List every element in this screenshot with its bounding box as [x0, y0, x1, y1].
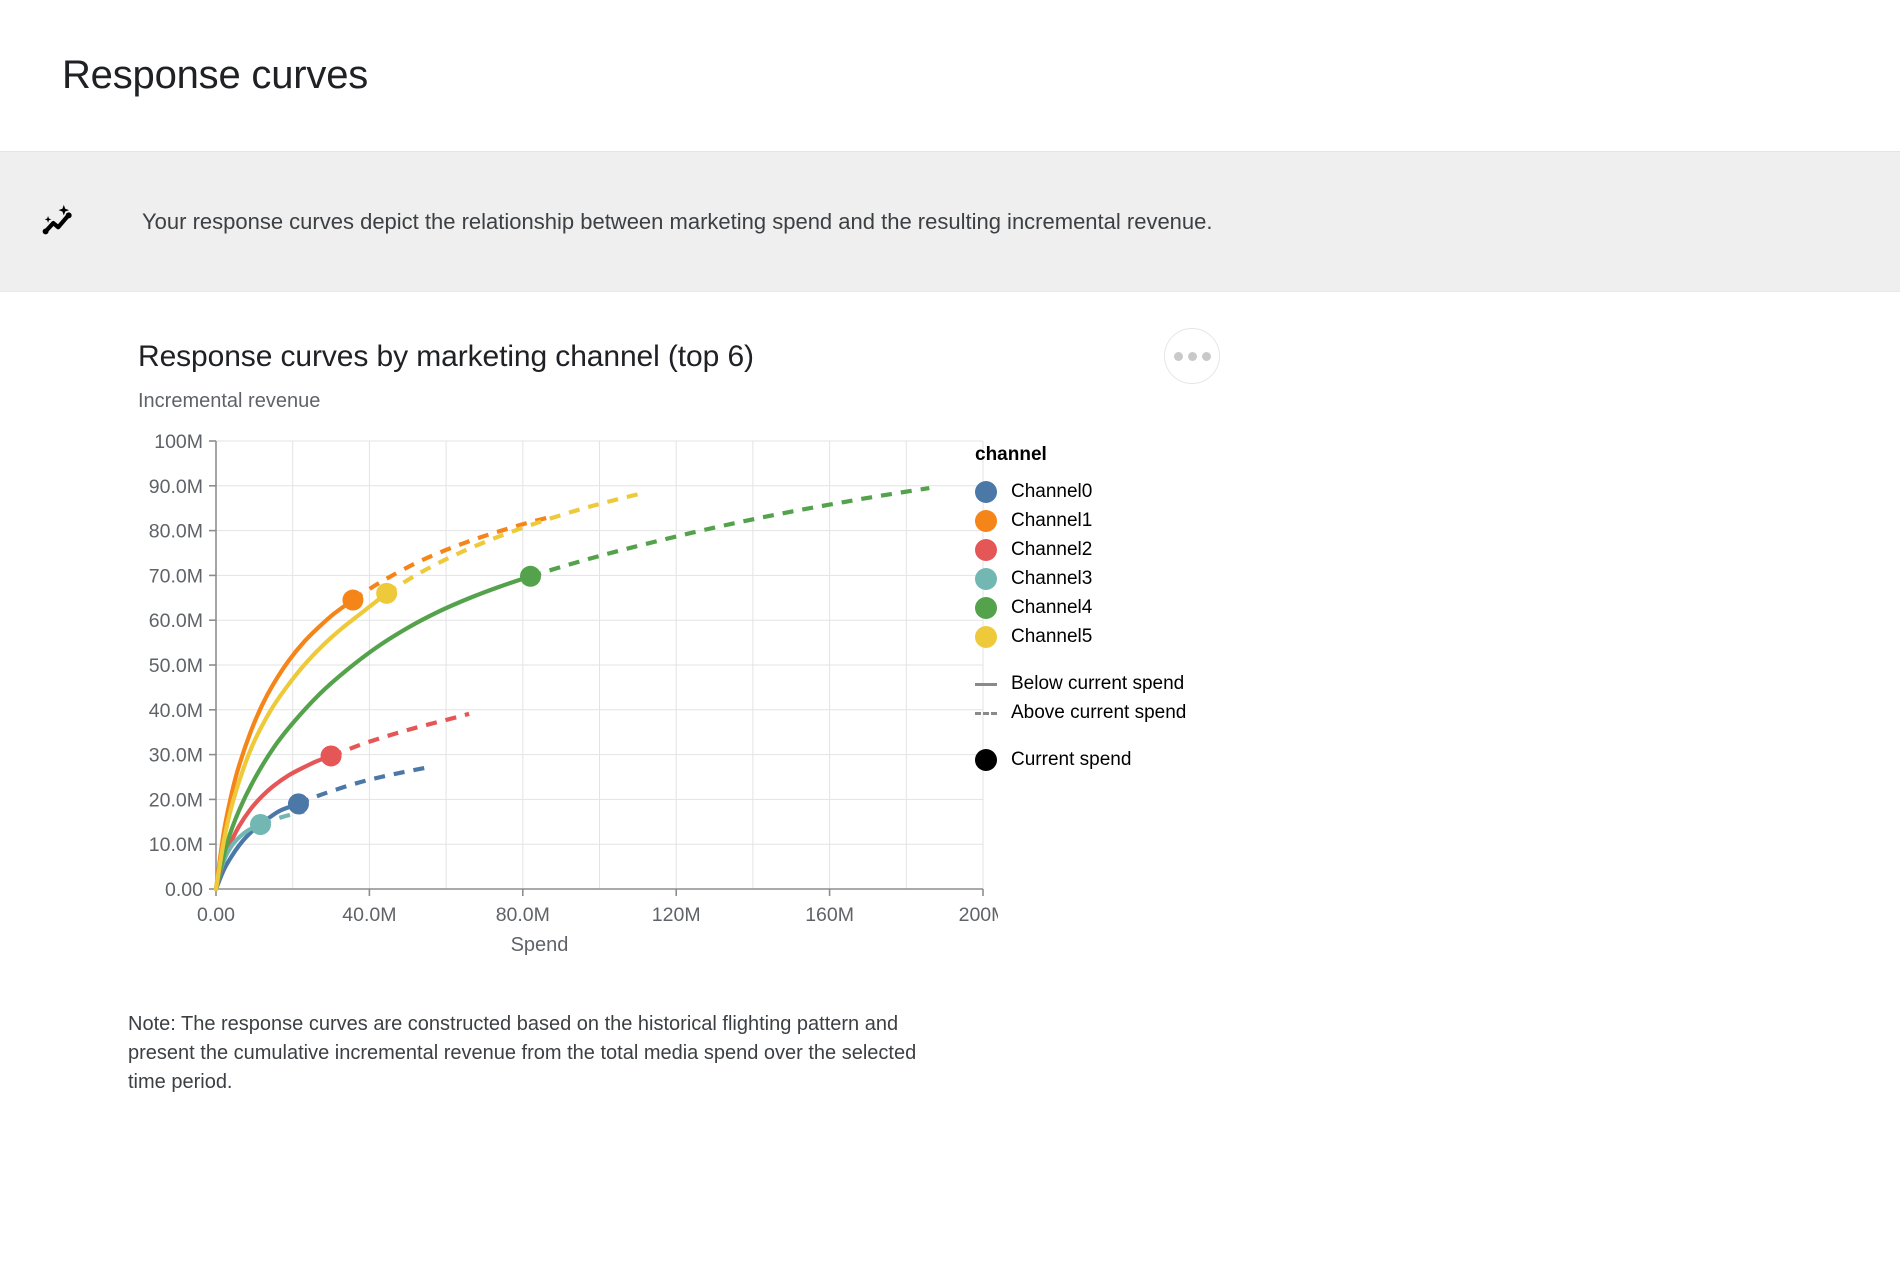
- current-spend-dot-icon: [975, 749, 997, 771]
- legend-swatch-icon: [975, 510, 997, 532]
- response-curves-page: Response curves Your response curves dep…: [0, 0, 1900, 1282]
- more-options-button[interactable]: [1164, 328, 1220, 384]
- y-axis-tick-label: 20.0M: [149, 789, 203, 811]
- legend-label-below-current-spend: Below current spend: [1011, 673, 1184, 695]
- y-axis-tick-label: 30.0M: [149, 745, 203, 767]
- legend-label-channel5: Channel5: [1011, 626, 1092, 648]
- current-spend-marker-channel5[interactable]: [376, 583, 397, 604]
- legend-swatch-icon: [975, 539, 997, 561]
- legend-spacer-2: [975, 727, 1315, 745]
- legend-label-above-current-spend: Above current spend: [1011, 702, 1186, 724]
- legend-swatch-icon: [975, 597, 997, 619]
- legend-item-channel3[interactable]: Channel3: [975, 564, 1315, 593]
- chart-subtitle: Incremental revenue: [138, 390, 1900, 413]
- page-title: Response curves: [62, 53, 368, 98]
- solid-line-icon: [975, 673, 997, 695]
- legend-label-current-spend: Current spend: [1011, 749, 1131, 771]
- legend-item-below-current-spend[interactable]: Below current spend: [975, 669, 1315, 698]
- y-axis-tick-label: 40.0M: [149, 700, 203, 722]
- card-header: Response curves by marketing channel (to…: [0, 292, 1900, 413]
- banner-message: Your response curves depict the relation…: [142, 207, 1213, 237]
- x-axis-title: Spend: [511, 934, 569, 956]
- y-axis-tick-label: 80.0M: [149, 521, 203, 543]
- curve-dashed-channel5[interactable]: [387, 494, 638, 593]
- legend-label-channel4: Channel4: [1011, 597, 1092, 619]
- info-banner: Your response curves depict the relation…: [0, 152, 1900, 292]
- sparkle-trend-icon: [38, 199, 84, 245]
- chart-area: 0.0010.0M20.0M30.0M40.0M50.0M60.0M70.0M8…: [0, 423, 1900, 988]
- curve-dashed-channel0[interactable]: [298, 768, 426, 804]
- more-dot-2: [1188, 352, 1197, 361]
- legend-item-channel5[interactable]: Channel5: [975, 622, 1315, 651]
- legend-label-channel1: Channel1: [1011, 510, 1092, 532]
- y-axis-tick-label: 90.0M: [149, 476, 203, 498]
- current-spend-marker-channel3[interactable]: [250, 814, 271, 835]
- more-dot-3: [1202, 352, 1211, 361]
- y-axis-tick-label: 10.0M: [149, 834, 203, 856]
- curve-dashed-channel2[interactable]: [331, 714, 469, 756]
- legend-item-channel4[interactable]: Channel4: [975, 593, 1315, 622]
- curve-solid-channel4[interactable]: [216, 576, 530, 889]
- y-axis-tick-label: 60.0M: [149, 610, 203, 632]
- legend-item-channel2[interactable]: Channel2: [975, 535, 1315, 564]
- dashed-line-icon: [975, 702, 997, 724]
- legend-swatch-icon: [975, 568, 997, 590]
- current-spend-marker-channel2[interactable]: [321, 745, 342, 766]
- legend-label-channel2: Channel2: [1011, 539, 1092, 561]
- x-axis-tick-label: 80.0M: [496, 904, 550, 926]
- legend-label-channel0: Channel0: [1011, 481, 1092, 503]
- chart-note: Note: The response curves are constructe…: [0, 1010, 958, 1097]
- y-axis-tick-label: 100M: [154, 431, 203, 453]
- x-axis-tick-label: 120M: [652, 904, 701, 926]
- chart-title: Response curves by marketing channel (to…: [138, 340, 1900, 374]
- response-curves-card: Response curves by marketing channel (to…: [0, 292, 1900, 1097]
- current-spend-marker-channel0[interactable]: [288, 793, 309, 814]
- legend-label-channel3: Channel3: [1011, 568, 1092, 590]
- more-dot-1: [1174, 352, 1183, 361]
- page-header: Response curves: [0, 0, 1900, 152]
- legend-swatch-icon: [975, 626, 997, 648]
- y-axis-tick-label: 70.0M: [149, 565, 203, 587]
- x-axis-tick-label: 160M: [805, 904, 854, 926]
- legend-item-channel1[interactable]: Channel1: [975, 506, 1315, 535]
- y-axis-tick-label: 50.0M: [149, 655, 203, 677]
- legend-series-list: Channel0Channel1Channel2Channel3Channel4…: [975, 477, 1315, 651]
- legend-item-channel0[interactable]: Channel0: [975, 477, 1315, 506]
- legend-spacer: [975, 651, 1315, 669]
- x-axis-tick-label: 0.00: [197, 904, 235, 926]
- curve-dashed-channel4[interactable]: [530, 488, 929, 576]
- y-axis-tick-label: 0.00: [165, 879, 203, 901]
- legend-item-above-current-spend[interactable]: Above current spend: [975, 698, 1315, 727]
- chart-legend: channel Channel0Channel1Channel2Channel3…: [975, 444, 1315, 774]
- legend-title: channel: [975, 444, 1315, 466]
- current-spend-marker-channel4[interactable]: [520, 566, 541, 587]
- response-curves-chart[interactable]: 0.0010.0M20.0M30.0M40.0M50.0M60.0M70.0M8…: [138, 423, 998, 983]
- x-axis-tick-label: 40.0M: [342, 904, 396, 926]
- legend-item-current-spend[interactable]: Current spend: [975, 745, 1315, 774]
- x-axis-tick-label: 200M: [959, 904, 998, 926]
- current-spend-marker-channel1[interactable]: [342, 590, 363, 611]
- legend-swatch-icon: [975, 481, 997, 503]
